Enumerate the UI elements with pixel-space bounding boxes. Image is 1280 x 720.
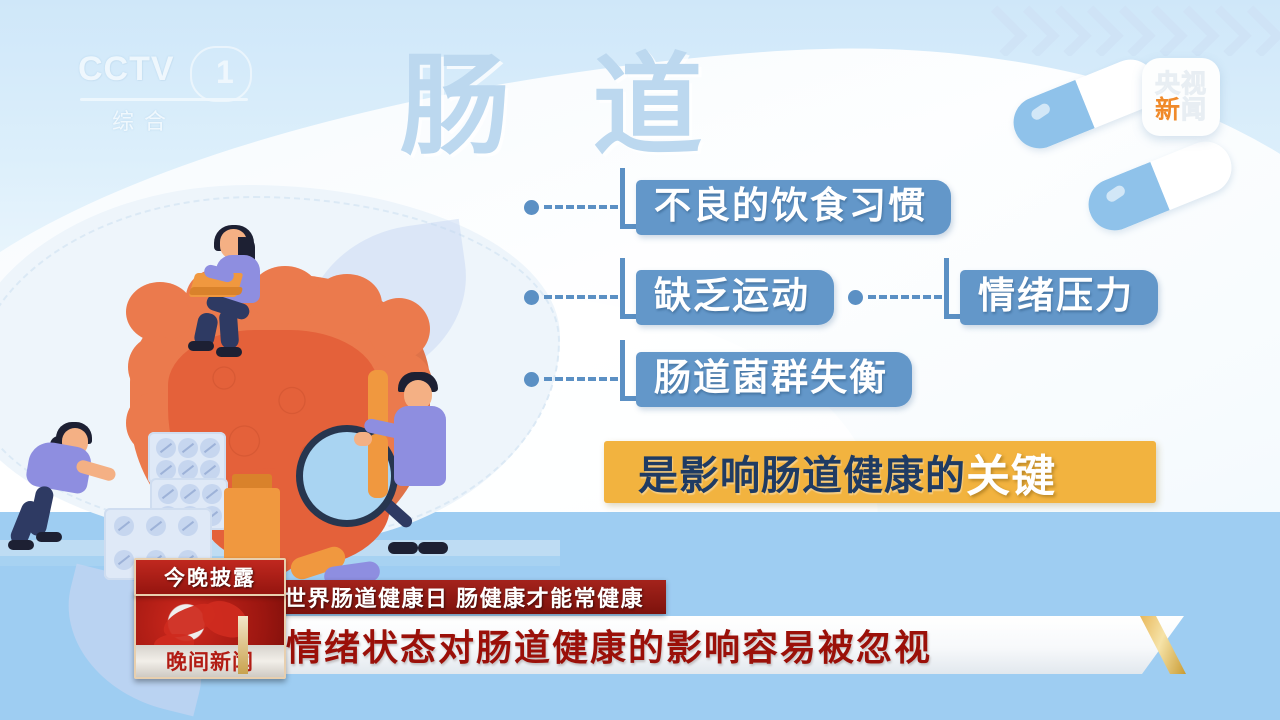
cctv-news-watermark: 央视 新闻 xyxy=(1142,58,1220,136)
subheadline-bar: 世界肠道健康日 肠健康才能常健康 xyxy=(266,580,666,614)
headline-bar: 情绪状态对肠道健康的影响容易被忽视 xyxy=(244,616,1184,674)
connector-dashed-line xyxy=(544,377,618,381)
callout-emotional-stress[interactable]: 情绪压力 xyxy=(848,270,1158,325)
callout-label: 缺乏运动 xyxy=(654,276,810,316)
subheadline-text: 世界肠道健康日 肠健康才能常健康 xyxy=(284,581,644,613)
callout-lack-exercise[interactable]: 缺乏运动 xyxy=(524,270,834,325)
cctv-logo-number: 1 xyxy=(216,54,234,91)
cctv-news-line1: 央视 xyxy=(1155,72,1207,97)
callout-box[interactable]: 情绪压力 xyxy=(960,270,1158,325)
callout-bad-diet[interactable]: 不良的饮食习惯 xyxy=(524,180,951,235)
callout-box[interactable]: 缺乏运动 xyxy=(636,270,834,325)
connector-dot-icon xyxy=(524,372,539,387)
callout-label: 肠道菌群失衡 xyxy=(654,358,888,398)
connector-dot-icon xyxy=(524,200,539,215)
program-name-plate: 晚间新闻 xyxy=(136,645,284,677)
callout-label: 情绪压力 xyxy=(978,276,1134,316)
cctv-logo-subtitle: 综合 xyxy=(112,104,176,136)
cctv-news-char-news: 闻 xyxy=(1181,96,1207,124)
connector-dot-icon xyxy=(524,290,539,305)
callout-box[interactable]: 肠道菌群失衡 xyxy=(636,352,912,407)
cctv1-channel-logo: CCTV 1 综合 xyxy=(78,52,253,142)
page-title: 肠 道 xyxy=(400,52,729,162)
connector-dot-icon xyxy=(848,290,863,305)
key-banner-highlight: 关键 xyxy=(966,440,1056,504)
person-with-laptop-illustration xyxy=(190,225,300,355)
callout-label: 不良的饮食习惯 xyxy=(654,186,927,226)
key-conclusion-banner: 是影响肠道健康的关键 xyxy=(604,441,1156,503)
gut-illustration xyxy=(0,200,520,570)
broadcast-frame: CCTV 1 综合 央视 新闻 肠 道 xyxy=(0,0,1280,720)
tonight-badge-label: 今晚披露 xyxy=(164,562,256,592)
callout-gut-flora-imbalance[interactable]: 肠道菌群失衡 xyxy=(524,352,912,407)
connector-dashed-line xyxy=(544,295,618,299)
cctv-news-line2: 新闻 xyxy=(1155,98,1207,123)
headline-left-edge xyxy=(238,616,248,674)
cctv-logo-underline xyxy=(80,98,248,101)
key-banner-prefix: 是影响肠道健康的 xyxy=(638,443,966,501)
callout-box[interactable]: 不良的饮食习惯 xyxy=(636,180,951,235)
program-globe-logo: 晚间新闻 xyxy=(134,590,286,679)
pill-blister-pack-icon xyxy=(148,432,226,484)
headline-text: 情绪状态对肠道健康的影响容易被忽视 xyxy=(286,619,932,671)
cctv-logo-number-frame: 1 xyxy=(190,46,252,102)
chevron-arrows-decoration xyxy=(980,2,1280,56)
person-with-magnifier-illustration xyxy=(368,370,498,570)
tonight-badge: 今晚披露 xyxy=(134,558,286,596)
connector-dashed-line xyxy=(868,295,942,299)
connector-dashed-line xyxy=(544,205,618,209)
cctv-news-char-new: 新 xyxy=(1155,96,1181,124)
person-reaching-illustration xyxy=(10,422,130,562)
